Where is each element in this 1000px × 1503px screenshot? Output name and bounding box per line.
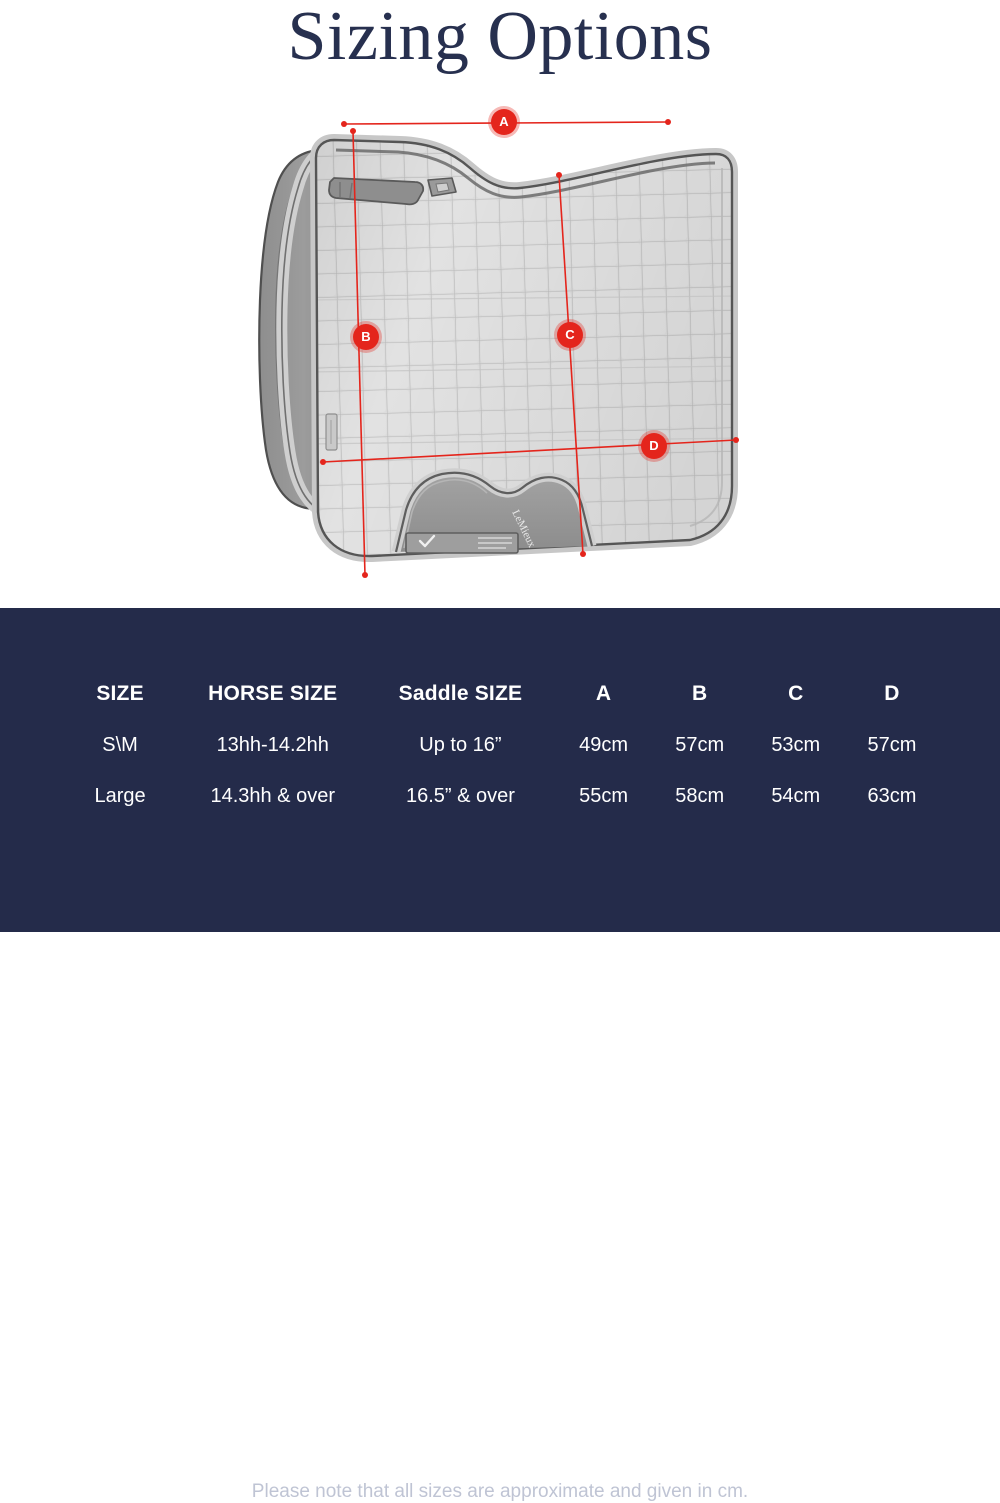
cell-c: 53cm (748, 720, 844, 771)
sizing-options-page: Sizing Options (0, 0, 1000, 932)
column-header-c: C (748, 668, 844, 720)
measurement-badge-d: D (641, 433, 667, 459)
cell-d: 57cm (844, 720, 940, 771)
cell-b: 57cm (652, 720, 748, 771)
cell-saddle-size: Up to 16” (365, 720, 555, 771)
size-table: SIZE HORSE SIZE Saddle SIZE A B C D S\M … (60, 668, 940, 822)
column-header-horse-size: HORSE SIZE (180, 668, 365, 720)
measurement-badge-c: C (557, 322, 583, 348)
cell-size: Large (60, 771, 180, 822)
pad-d-ring-tab (428, 178, 456, 196)
column-header-d: D (844, 668, 940, 720)
cell-size: S\M (60, 720, 180, 771)
cell-d: 63cm (844, 771, 940, 822)
diagram-panel: Sizing Options (0, 0, 1000, 608)
table-row: S\M 13hh-14.2hh Up to 16” 49cm 57cm 53cm… (60, 720, 940, 771)
column-header-size: SIZE (60, 668, 180, 720)
column-header-b: B (652, 668, 748, 720)
cell-b: 58cm (652, 771, 748, 822)
cell-a: 49cm (556, 720, 652, 771)
table-row: Large 14.3hh & over 16.5” & over 55cm 58… (60, 771, 940, 822)
cell-saddle-size: 16.5” & over (365, 771, 555, 822)
column-header-a: A (556, 668, 652, 720)
cell-a: 55cm (556, 771, 652, 822)
measurement-badge-a: A (491, 109, 517, 135)
size-table-panel: SIZE HORSE SIZE Saddle SIZE A B C D S\M … (0, 608, 1000, 932)
pad-girth-flap: LeMieux (396, 473, 592, 553)
column-header-saddle-size: Saddle SIZE (365, 668, 555, 720)
cell-horse-size: 13hh-14.2hh (180, 720, 365, 771)
cell-horse-size: 14.3hh & over (180, 771, 365, 822)
measurement-badge-b: B (353, 324, 379, 350)
pad-side-label (326, 414, 337, 450)
saddle-pad-illustration: LeMieux (0, 0, 1000, 608)
table-footnote: Please note that all sizes are approxima… (0, 1481, 1000, 1503)
cell-c: 54cm (748, 771, 844, 822)
table-header-row: SIZE HORSE SIZE Saddle SIZE A B C D (60, 668, 940, 720)
saddle-pad-diagram: LeMieux (0, 0, 1000, 608)
